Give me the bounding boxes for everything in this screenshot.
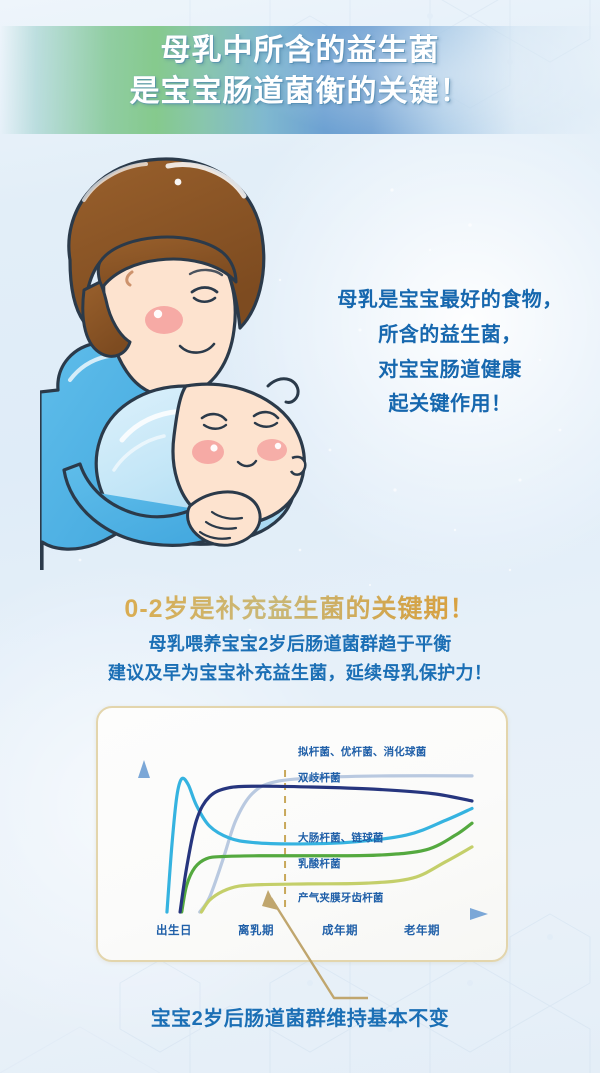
section-subtext: 母乳喂养宝宝2岁后肠道菌群趋于平衡 建议及早为宝宝补充益生菌，延续母乳保护力！	[0, 630, 600, 688]
banner-title-line2: 是宝宝肠道菌衡的关键！	[0, 71, 600, 112]
series-label-bacteroides: 拟杆菌、优杆菌、消化球菌	[298, 744, 426, 759]
xtick-oldage: 老年期	[404, 922, 440, 938]
intro-line-3: 对宝宝肠道健康	[312, 353, 588, 388]
xtick-adulthood: 成年期	[322, 922, 358, 938]
banner-title: 母乳中所含的益生菌 是宝宝肠道菌衡的关键！	[0, 30, 600, 113]
section-sub-line-2: 建议及早为宝宝补充益生菌，延续母乳保护力！	[0, 659, 600, 688]
series-label-bifidobacterium: 双歧杆菌	[298, 770, 341, 785]
section-sub-line-1: 母乳喂养宝宝2岁后肠道菌群趋于平衡	[0, 630, 600, 659]
xtick-birth: 出生日	[156, 922, 192, 938]
infographic-page: 母乳中所含的益生菌 是宝宝肠道菌衡的关键！	[0, 0, 600, 1073]
xtick-weaning: 离乳期	[238, 922, 274, 938]
series-label-clostridium: 产气夹膜牙齿杆菌	[298, 890, 384, 905]
section-heading: 0-2岁是补充益生菌的关键期！	[0, 589, 600, 625]
intro-line-2: 所含的益生菌，	[312, 318, 588, 353]
banner-title-line1: 母乳中所含的益生菌	[161, 34, 440, 67]
gut-flora-chart-panel: 拟杆菌、优杆菌、消化球菌 双歧杆菌 大肠杆菌、链球菌 乳酸杆菌 产气夹膜牙齿杆菌…	[96, 706, 508, 962]
intro-line-4: 起关键作用！	[312, 387, 588, 422]
intro-line-1: 母乳是宝宝最好的食物，	[312, 283, 588, 318]
series-label-ecoli-strep: 大肠杆菌、链球菌	[298, 830, 384, 845]
intro-paragraph: 母乳是宝宝最好的食物， 所含的益生菌， 对宝宝肠道健康 起关键作用！	[312, 283, 588, 422]
series-label-lactobacillus: 乳酸杆菌	[298, 856, 341, 871]
chart-caption: 宝宝2岁后肠道菌群维持基本不变	[0, 1002, 600, 1031]
mother-baby-illustration	[40, 140, 340, 570]
